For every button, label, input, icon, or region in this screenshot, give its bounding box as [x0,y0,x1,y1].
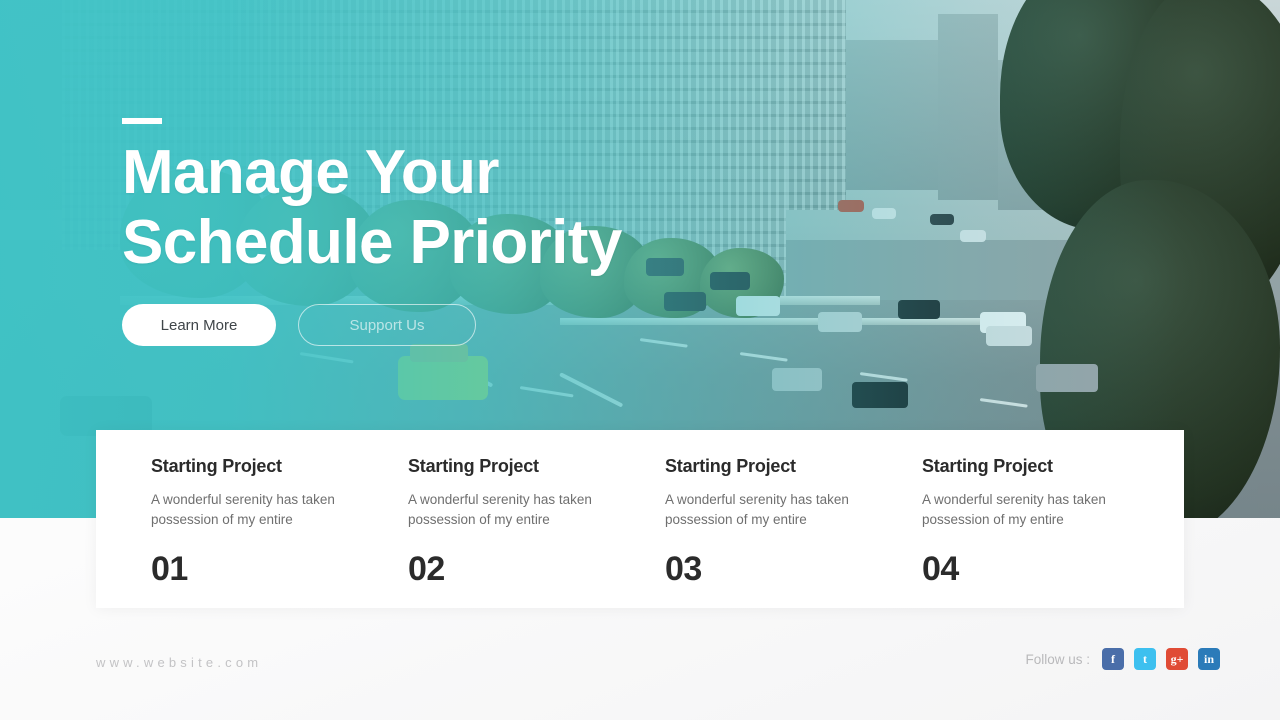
feature-title: Starting Project [922,456,1124,477]
feature-title: Starting Project [151,456,353,477]
feature-number: 01 [151,550,353,589]
site-url[interactable]: www.website.com [96,655,262,670]
headline-line-1: Manage Your [122,138,842,208]
feature-title: Starting Project [408,456,610,477]
page-title: Manage Your Schedule Priority [122,138,842,278]
feature-title: Starting Project [665,456,867,477]
follow-us-group: Follow us : f t g+ in [1025,648,1220,670]
follow-us-label: Follow us : [1025,652,1090,667]
accent-dash [122,118,162,124]
headline-line-2: Schedule Priority [122,208,842,278]
learn-more-button[interactable]: Learn More [122,304,276,346]
feature-card: Starting Project A wonderful serenity ha… [96,430,1184,608]
linkedin-icon[interactable]: in [1198,648,1220,670]
googleplus-icon[interactable]: g+ [1166,648,1188,670]
feature-number: 04 [922,550,1124,589]
feature-number: 02 [408,550,610,589]
feature-item[interactable]: Starting Project A wonderful serenity ha… [610,430,867,608]
feature-description: A wonderful serenity has taken possessio… [408,490,608,530]
footer: www.website.com Follow us : f t g+ in [0,608,1280,720]
feature-description: A wonderful serenity has taken possessio… [151,490,351,530]
twitter-icon[interactable]: t [1134,648,1156,670]
feature-item[interactable]: Starting Project A wonderful serenity ha… [353,430,610,608]
support-us-button[interactable]: Support Us [298,304,476,346]
hero-button-group: Learn More Support Us [122,304,842,346]
hero-content: Manage Your Schedule Priority Learn More… [122,118,842,346]
feature-number: 03 [665,550,867,589]
feature-item[interactable]: Starting Project A wonderful serenity ha… [867,430,1124,608]
feature-item[interactable]: Starting Project A wonderful serenity ha… [96,430,353,608]
slide-root: Manage Your Schedule Priority Learn More… [0,0,1280,720]
feature-description: A wonderful serenity has taken possessio… [665,490,865,530]
facebook-icon[interactable]: f [1102,648,1124,670]
feature-description: A wonderful serenity has taken possessio… [922,490,1122,530]
